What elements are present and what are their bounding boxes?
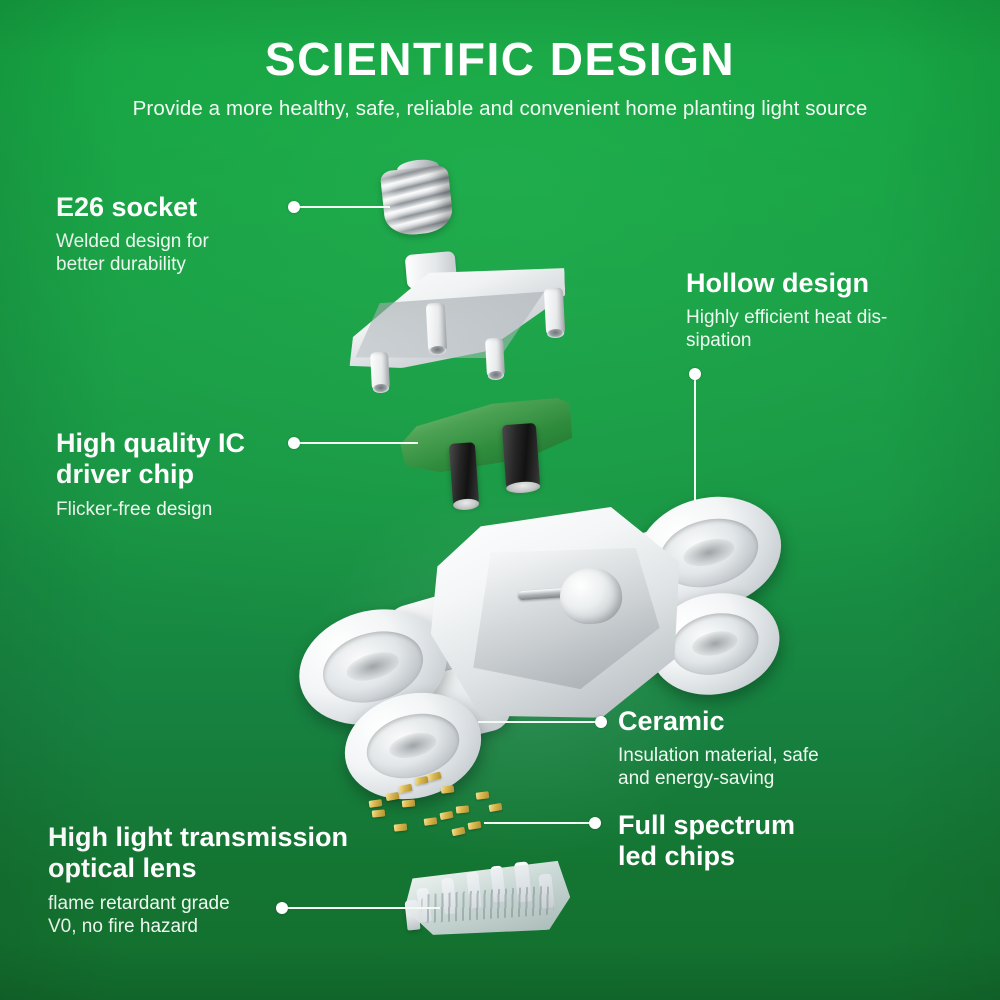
- led-chip: [439, 811, 453, 820]
- leader-line: [478, 721, 600, 723]
- led-chip: [402, 799, 416, 807]
- callout-heading: High light transmission optical lens: [48, 822, 388, 885]
- callout-ceramic: Ceramic Insulation material, safe and en…: [618, 706, 918, 791]
- callout-hollow-design: Hollow design Highly efficient heat dis-…: [686, 268, 976, 353]
- header: SCIENTIFIC DESIGN Provide a more healthy…: [0, 0, 1000, 121]
- leader-line: [694, 378, 696, 500]
- led-chip: [394, 823, 408, 831]
- leader-dot: [589, 817, 601, 829]
- led-chip: [476, 791, 490, 800]
- page-subtitle: Provide a more healthy, safe, reliable a…: [0, 86, 1000, 121]
- callout-subtext: Highly efficient heat dis- sipation: [686, 306, 976, 352]
- capacitor-2: [502, 423, 540, 489]
- callout-e26-socket: E26 socket Welded design for better dura…: [56, 192, 286, 277]
- leader-dot: [595, 716, 607, 728]
- housing-post-4: [485, 338, 505, 378]
- page-title: SCIENTIFIC DESIGN: [0, 0, 1000, 86]
- capacitor-1: [449, 442, 479, 506]
- leader-dot: [288, 201, 300, 213]
- housing-post-2: [544, 288, 565, 336]
- leader-line: [298, 442, 418, 444]
- led-chip: [369, 799, 383, 808]
- callout-subtext: Welded design for better durability: [56, 230, 286, 276]
- optical-lens-base: [402, 854, 573, 939]
- leader-dot: [288, 437, 300, 449]
- ic-driver-pcb-part: [398, 397, 574, 475]
- led-chip: [424, 817, 438, 826]
- led-chip: [372, 809, 386, 817]
- led-chip: [451, 827, 465, 837]
- leader-dot: [689, 368, 701, 380]
- led-head-face-2: [666, 605, 765, 682]
- led-chip: [468, 821, 482, 830]
- housing-post-3: [370, 352, 390, 391]
- callout-heading: Full spectrum led chips: [618, 810, 918, 873]
- led-chip: [385, 792, 399, 801]
- callout-subtext: Insulation material, safe and energy-sav…: [618, 744, 918, 790]
- led-head-face-4: [360, 704, 466, 787]
- callout-heading: Ceramic: [618, 706, 918, 737]
- callout-optical-lens: High light transmission optical lens fla…: [48, 822, 388, 938]
- callout-heading: High quality IC driver chip: [56, 428, 286, 491]
- callout-heading: E26 socket: [56, 192, 286, 223]
- leader-line: [484, 822, 596, 824]
- led-chip: [441, 785, 455, 794]
- callout-subtext: Flicker-free design: [56, 498, 286, 521]
- callout-ic-driver-chip: High quality IC driver chip Flicker-free…: [56, 428, 286, 521]
- led-chip: [488, 803, 502, 812]
- e26-socket-part: [380, 165, 455, 238]
- callout-full-spectrum-led-chips: Full spectrum led chips: [618, 810, 918, 880]
- housing-post-1: [426, 303, 448, 353]
- leader-line: [296, 206, 390, 208]
- callout-heading: Hollow design: [686, 268, 976, 299]
- infographic-page: SCIENTIFIC DESIGN Provide a more healthy…: [0, 0, 1000, 1000]
- callout-subtext: flame retardant grade V0, no fire hazard: [48, 892, 388, 938]
- led-chip: [456, 805, 470, 813]
